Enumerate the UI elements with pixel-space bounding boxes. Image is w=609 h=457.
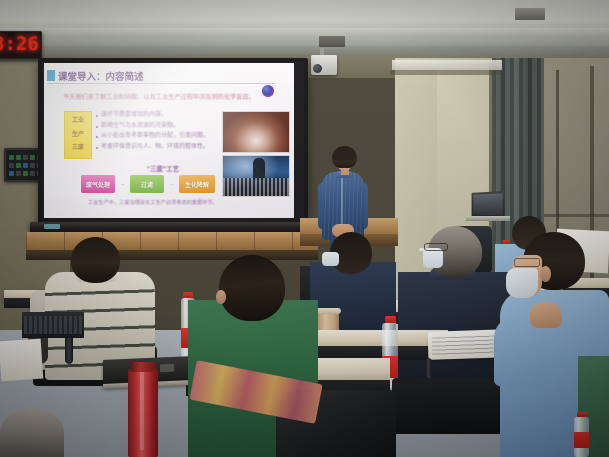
slide-title: 课堂导入：内容简述 [58, 69, 208, 83]
control-key[interactable] [9, 155, 14, 160]
bullet-text: 该环节需要增加的内容。 [101, 111, 167, 119]
slide-subtitle: 今天我们来了解工业制硝酸，以及工业生产过程中涉及到的化学反应。 [63, 93, 271, 103]
laptop-base [466, 216, 510, 221]
control-key[interactable] [23, 155, 28, 160]
control-key[interactable] [16, 163, 21, 168]
process-arrow-icon: → [119, 181, 126, 188]
bullet-dot-icon [96, 115, 98, 117]
control-key[interactable] [16, 171, 21, 176]
attendee-ear [540, 266, 551, 282]
attendee-ear [216, 290, 226, 304]
classroom-photo: 8:26 课堂导入：内容简述 今天我们来了解工业制硝酸，以及工业生产过程中涉及到… [0, 0, 609, 457]
control-key[interactable] [23, 163, 28, 168]
process-step-1: 废气处理 [81, 175, 115, 193]
wall-frame-line [541, 214, 609, 217]
slide-accent-bar [47, 70, 55, 81]
photo-figure [253, 158, 265, 180]
chair-back [392, 378, 510, 434]
control-key[interactable] [23, 171, 28, 176]
slide-photo-night-crowd [222, 155, 290, 197]
side-box-line: 三废 [72, 145, 84, 152]
bottle-label [574, 432, 589, 448]
notebook-emblem [160, 364, 174, 373]
wall-led-clock: 8:26 [0, 31, 42, 59]
laptop-screen [473, 193, 502, 215]
control-key[interactable] [16, 155, 21, 160]
control-key[interactable] [30, 163, 35, 168]
slide-side-box: 工业 生产 三废 [64, 111, 92, 159]
laptop-keyboard [24, 316, 82, 334]
control-key[interactable] [30, 171, 35, 176]
water-bottle [574, 412, 590, 457]
ceiling-vent-icon [319, 36, 345, 47]
side-box-line: 工业 [72, 118, 84, 125]
presenter-fringe [333, 151, 355, 160]
light-strip [392, 60, 502, 70]
face-mask [506, 268, 538, 298]
eyeglasses-icon [424, 243, 448, 251]
thermos-highlight [140, 372, 144, 450]
ledge-label-tag [44, 224, 60, 229]
paper-handout [0, 339, 43, 382]
slide-photo-industrial-runoff [222, 111, 290, 153]
process-arrow-icon: → [168, 181, 175, 188]
school-emblem-icon [262, 85, 274, 97]
ceiling-speaker-icon [515, 8, 545, 20]
ceiling-beam [0, 28, 609, 38]
bullet-dot-icon [96, 136, 98, 138]
slide-bullet-list: 该环节需要增加的内容。 影响空气与水资源的污染物。 从小处出发考察事物的分配，引… [96, 111, 220, 153]
control-key[interactable] [30, 155, 35, 160]
bullet-dot-icon [96, 147, 98, 149]
eyeglasses-icon [514, 258, 540, 267]
cabinet-base [26, 250, 318, 260]
face-mask [423, 248, 443, 268]
bullet-text: 从小处出发考察事物的分配，引发问题。 [101, 132, 209, 140]
clock-time: 8:26 [0, 33, 41, 55]
list-item: 考查环保意识与人、物、环境的整体性。 [96, 143, 220, 151]
list-item: 从小处出发考察事物的分配，引发问题。 [96, 132, 220, 140]
process-label: "三废"工艺 [128, 163, 198, 173]
bullet-text: 考查环保意识与人、物、环境的整体性。 [101, 143, 209, 151]
side-box-line: 生产 [72, 132, 84, 139]
list-item: 该环节需要增加的内容。 [96, 111, 220, 119]
list-item: 影响空气与水资源的污染物。 [96, 122, 220, 130]
light-strip-shadow [390, 70, 502, 75]
coffee-cup-lid [316, 308, 341, 314]
attendee-foreground-head [0, 408, 64, 457]
bullet-text: 影响空气与水资源的污染物。 [101, 122, 179, 130]
attendee-striped-polo-head [71, 237, 120, 283]
photo-crowd [223, 178, 289, 196]
control-key[interactable] [9, 171, 14, 176]
face-mask [322, 252, 339, 266]
process-note: 工业生产中，三废治理是化工生产必须考虑的重要环节。 [88, 199, 248, 206]
control-key[interactable] [9, 163, 14, 168]
attendee-green-top-head [219, 255, 285, 321]
process-row: 废气处理 → 过滤 → 生化降解 [68, 174, 228, 194]
process-step-2: 过滤 [130, 175, 164, 193]
projection-screen: 课堂导入：内容简述 今天我们来了解工业制硝酸，以及工业生产过程中涉及到的化学反应… [44, 63, 294, 218]
attendee-hand [530, 302, 562, 328]
slide-title-rule [47, 83, 275, 84]
thermos-cap [130, 362, 156, 372]
process-step-3: 生化降解 [179, 175, 215, 193]
bullet-dot-icon [96, 126, 98, 128]
cabinet-panel-lines [26, 232, 318, 252]
projector-lens-icon [313, 64, 322, 73]
